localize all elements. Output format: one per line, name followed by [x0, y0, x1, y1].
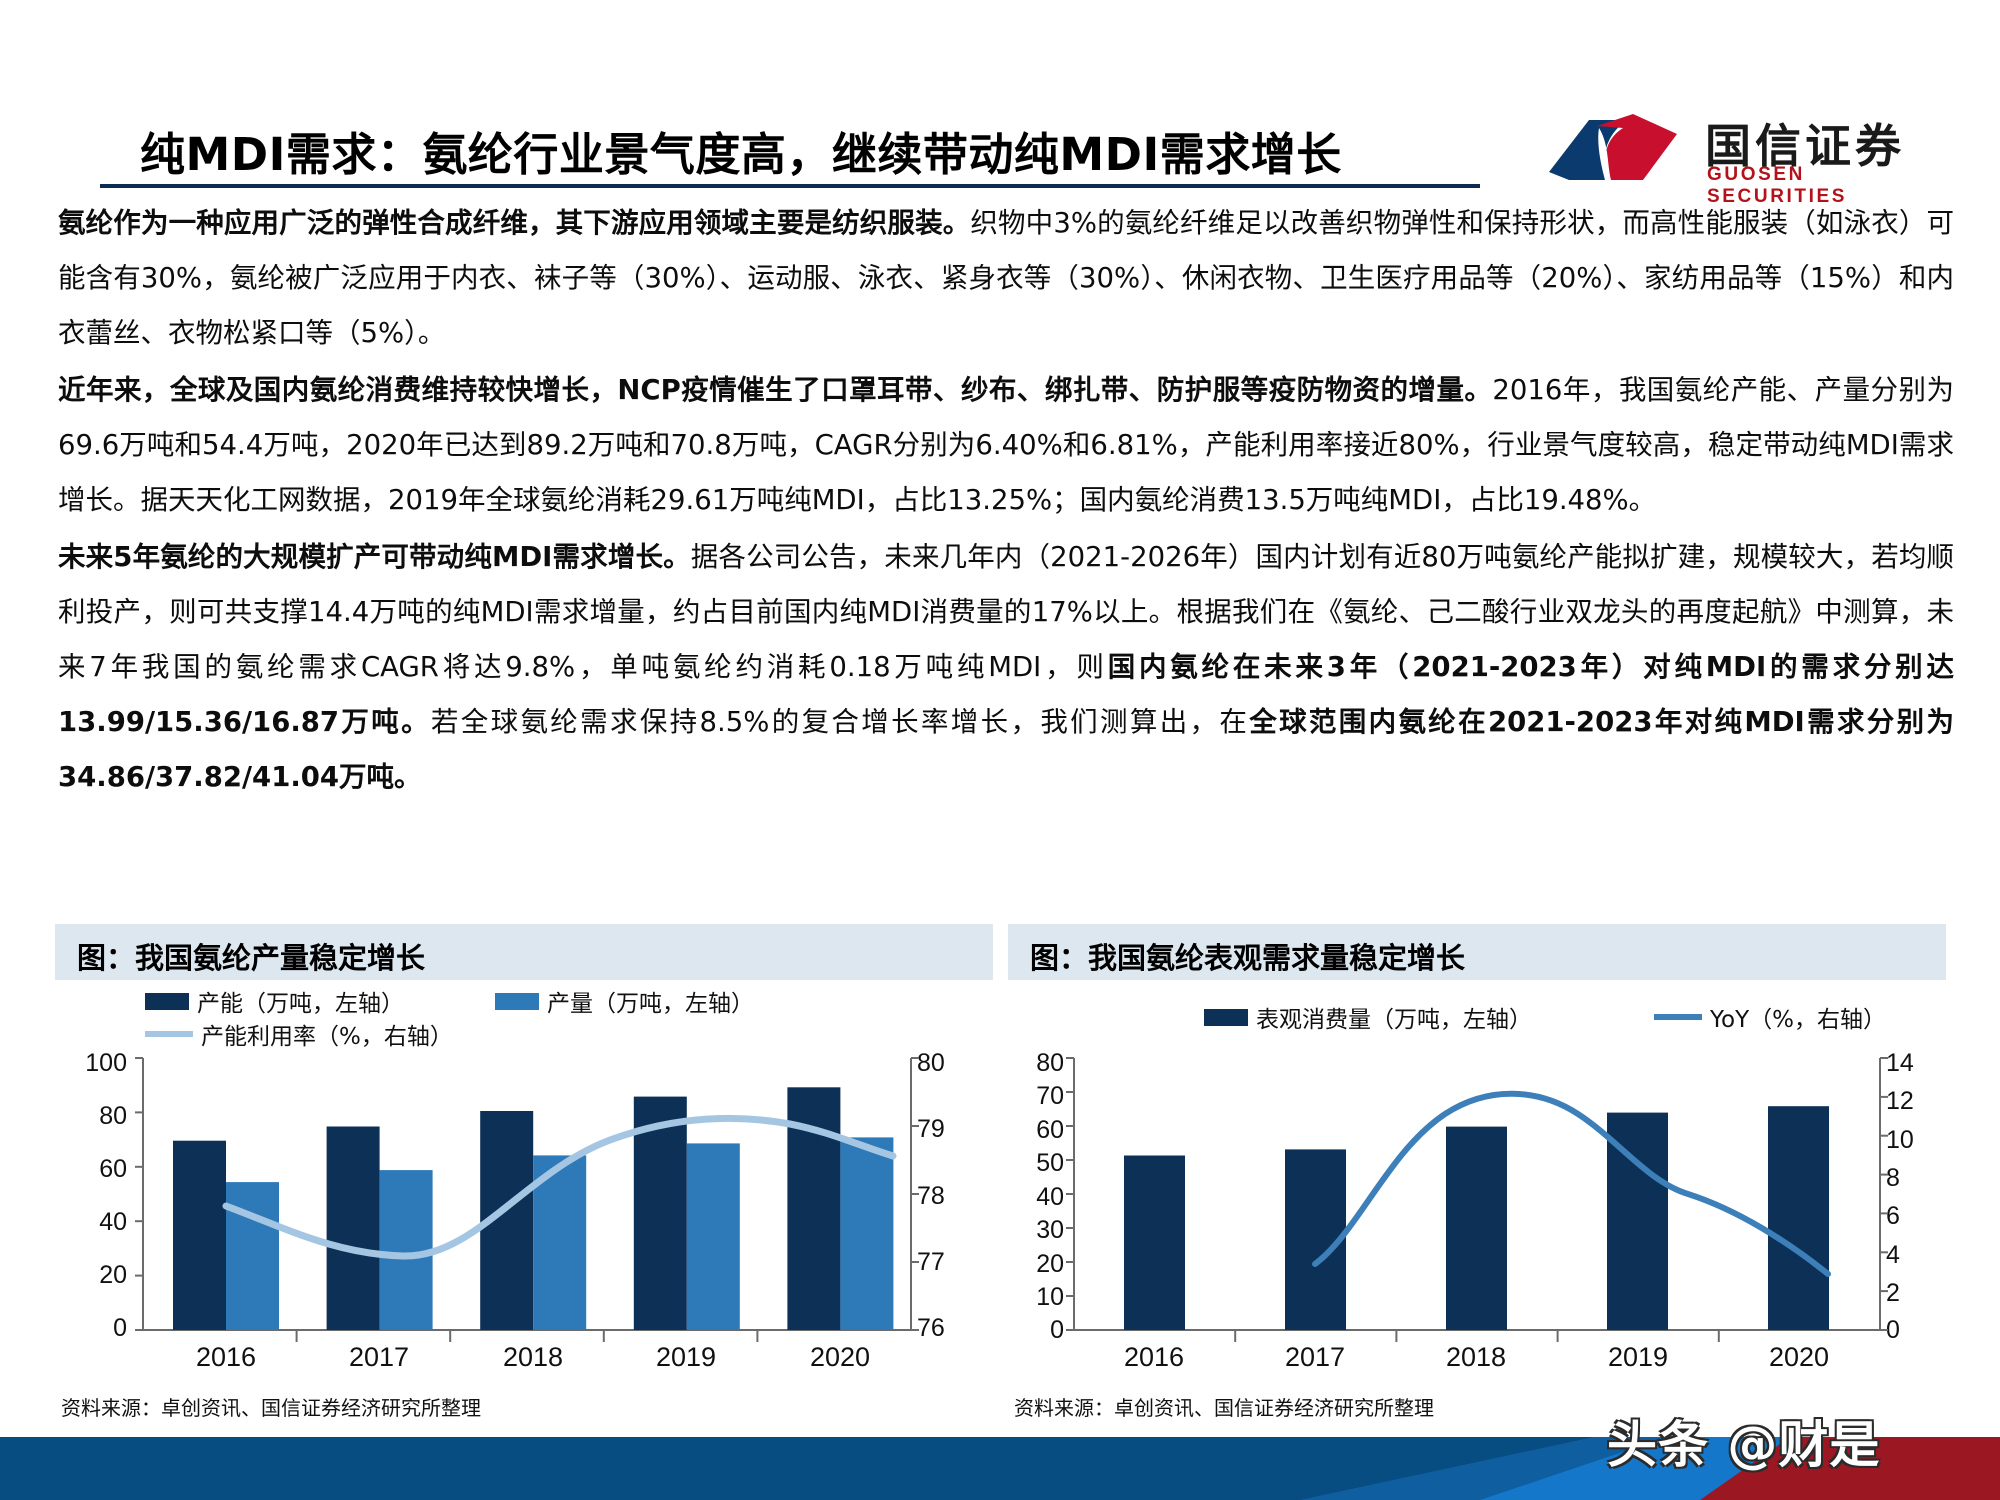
legend-label-utilization: 产能利用率（%，右轴） [201, 1017, 453, 1051]
legend-label-output: 产量（万吨，左轴） [547, 984, 754, 1018]
legend-item-output: 产量（万吨，左轴） [495, 984, 754, 1018]
paragraph-3: 未来5年氨纶的大规模扩产可带动纯MDI需求增长。据各公司公告，未来几年内（202… [58, 530, 1954, 805]
chart-panel-right: 图：我国氨纶表观需求量稳定增长 表观消费量（万吨，左轴） YoY（%，右轴） 8… [1008, 924, 1946, 1424]
slide-page: 纯MDI需求：氨纶行业景气度高，继续带动纯MDI需求增长 国信证券 GUOSEN… [0, 0, 2000, 1500]
legend-item-apparent-consumption: 表观消费量（万吨，左轴） [1204, 1000, 1532, 1034]
x-tick-2018: 2018 [468, 1342, 598, 1373]
legend-item-capacity: 产能（万吨，左轴） [145, 984, 404, 1018]
title-underline [100, 184, 1480, 188]
paragraph-3-lead: 未来5年氨纶的大规模扩产可带动纯MDI需求增长。 [58, 541, 691, 573]
legend-label-consumption: 表观消费量（万吨，左轴） [1256, 1000, 1532, 1034]
chart-left-legend: 产能（万吨，左轴） 产量（万吨，左轴） 产能利用率（%，右轴） [55, 984, 993, 1058]
chart-left-body: 产能（万吨，左轴） 产量（万吨，左轴） 产能利用率（%，右轴） 100 80 6… [55, 980, 993, 1380]
x-tick-r-2018: 2018 [1411, 1342, 1541, 1373]
x-tick-2020: 2020 [775, 1342, 905, 1373]
chart-left-header: 图：我国氨纶产量稳定增长 [55, 924, 993, 980]
paragraph-1-lead: 氨纶作为一种应用广泛的弹性合成纤维，其下游应用领域主要是纺织服装。 [58, 207, 970, 239]
page-title: 纯MDI需求：氨纶行业景气度高，继续带动纯MDI需求增长 [140, 118, 1480, 183]
x-tick-r-2017: 2017 [1250, 1342, 1380, 1373]
chart-right-body: 表观消费量（万吨，左轴） YoY（%，右轴） 80 70 60 50 40 30… [1008, 980, 1946, 1380]
chart-left-title: 图：我国氨纶产量稳定增长 [77, 935, 425, 977]
logo-mark-icon [1545, 110, 1685, 186]
legend-label-yoy: YoY（%，右轴） [1710, 1000, 1886, 1034]
chart-left-source: 资料来源：卓创资讯、国信证券经济研究所整理 [61, 1392, 481, 1421]
legend-label-capacity: 产能（万吨，左轴） [197, 984, 404, 1018]
chart-panel-left: 图：我国氨纶产量稳定增长 产能（万吨，左轴） 产量（万吨，左轴） 产能利用率（%… [55, 924, 993, 1424]
x-tick-r-2019: 2019 [1573, 1342, 1703, 1373]
chart-right-header: 图：我国氨纶表观需求量稳定增长 [1008, 924, 1946, 980]
legend-swatch-capacity-icon [145, 993, 189, 1010]
paragraph-2: 近年来，全球及国内氨纶消费维持较快增长，NCP疫情催生了口罩耳带、纱布、绑扎带、… [58, 363, 1954, 528]
legend-item-utilization: 产能利用率（%，右轴） [145, 1017, 453, 1051]
page-header: 纯MDI需求：氨纶行业景气度高，继续带动纯MDI需求增长 国信证券 GUOSEN… [0, 0, 2000, 196]
x-tick-r-2020: 2020 [1734, 1342, 1864, 1373]
guosen-logo: 国信证券 GUOSEN SECURITIES [1545, 108, 1945, 190]
legend-swatch-output-icon [495, 993, 539, 1010]
chart-right-plot: 80 70 60 50 40 30 20 10 0 14 12 10 8 6 4… [1008, 1052, 1946, 1380]
paragraph-3-tail: 若全球氨纶需求保持8.5%的复合增长率增长，我们测算出，在 [431, 706, 1249, 738]
x-tick-2019: 2019 [621, 1342, 751, 1373]
paragraph-1: 氨纶作为一种应用广泛的弹性合成纤维，其下游应用领域主要是纺织服装。织物中3%的氨… [58, 196, 1954, 361]
paragraph-2-lead: 近年来，全球及国内氨纶消费维持较快增长，NCP疫情催生了口罩耳带、纱布、绑扎带、… [58, 374, 1492, 406]
x-tick-2016: 2016 [161, 1342, 291, 1373]
body-copy: 氨纶作为一种应用广泛的弹性合成纤维，其下游应用领域主要是纺织服装。织物中3%的氨… [58, 196, 1954, 807]
watermark: 头条 @财是 [1607, 1405, 1880, 1477]
legend-line-utilization-icon [145, 1031, 193, 1037]
legend-line-yoy-icon [1654, 1014, 1702, 1020]
chart-right-title: 图：我国氨纶表观需求量稳定增长 [1030, 935, 1465, 977]
legend-swatch-consumption-icon [1204, 1009, 1248, 1026]
chart-right-legend: 表观消费量（万吨，左轴） YoY（%，右轴） [1008, 984, 1946, 1058]
legend-item-yoy: YoY（%，右轴） [1654, 1000, 1886, 1034]
x-tick-2017: 2017 [314, 1342, 444, 1373]
chart-left-plot: 100 80 60 40 20 0 80 79 78 77 76 [55, 1052, 993, 1380]
chart-right-source: 资料来源：卓创资讯、国信证券经济研究所整理 [1014, 1392, 1434, 1421]
x-tick-r-2016: 2016 [1089, 1342, 1219, 1373]
